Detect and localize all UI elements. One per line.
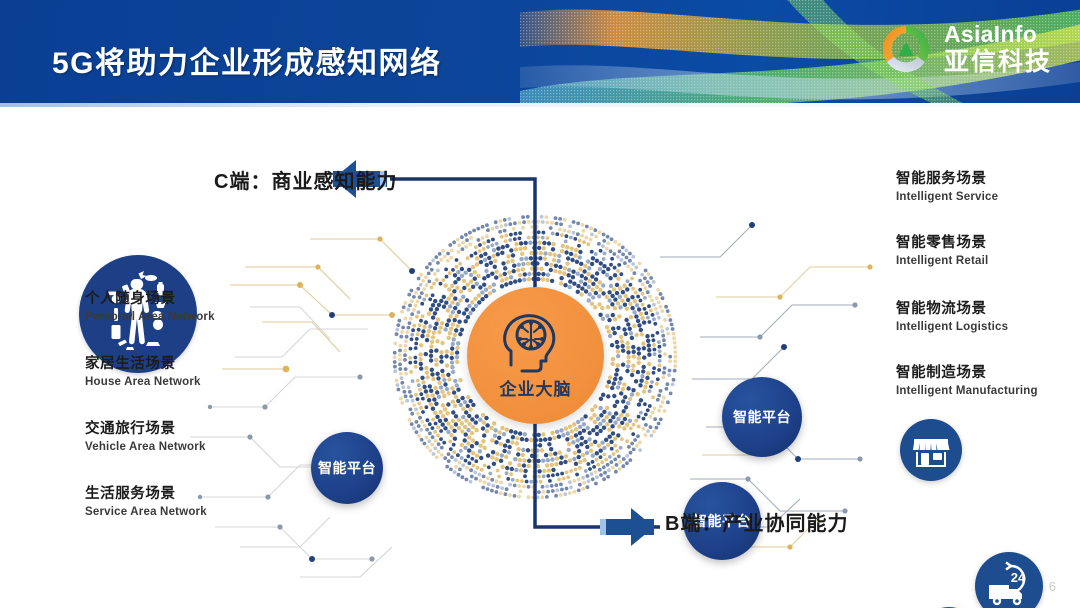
brain-head-icon [498, 309, 572, 375]
scenario-right-1-en: Intelligent Retail [896, 255, 988, 267]
scenario-right-1: 智能零售场景 Intelligent Retail [896, 231, 988, 267]
arrow-right-icon [600, 508, 654, 546]
slide: 5G将助力企业形成感知网络 [0, 0, 1080, 608]
storefront-icon [900, 419, 962, 481]
segment-label-business: B端：产业协同能力 [665, 507, 848, 536]
platform-node-left-label: 智能平台 [318, 458, 376, 478]
scenario-left-1: 家居生活场景 House Area Network [85, 352, 201, 388]
scenario-left-0-cn: 个人随身场景 [85, 287, 215, 308]
page-title: 5G将助力企业形成感知网络 [52, 38, 442, 82]
truck-badge-24: 24 [1011, 570, 1026, 585]
scenario-right-1-cn: 智能零售场景 [896, 231, 988, 252]
scenario-right-0-en: Intelligent Service [896, 191, 998, 203]
scenario-left-1-cn: 家居生活场景 [85, 352, 201, 373]
scenario-right-2-en: Intelligent Logistics [896, 321, 1008, 333]
scenario-right-3-en: Intelligent Manufacturing [896, 385, 1038, 397]
brand-name-cn: 亚信科技 [944, 50, 1052, 75]
scenario-left-0-en: Personal Area Network [85, 311, 215, 323]
scenario-left-2-cn: 交通旅行场景 [85, 417, 206, 438]
platform-node-top-right[interactable]: 智能平台 [722, 377, 802, 457]
brand-name-en: AsiaInfo [944, 23, 1052, 46]
enterprise-brain-node[interactable]: 企业大脑 [467, 287, 604, 424]
scenario-left-0: 个人随身场景 Personal Area Network [85, 287, 215, 323]
enterprise-brain-label: 企业大脑 [467, 375, 604, 400]
page-number: 6 [1049, 579, 1056, 594]
scenario-right-0-cn: 智能服务场景 [896, 167, 998, 188]
scenario-right-2-cn: 智能物流场景 [896, 297, 1008, 318]
scenario-right-3-cn: 智能制造场景 [896, 361, 1038, 382]
scenario-right-0: 智能服务场景 Intelligent Service [896, 167, 998, 203]
segment-label-consumer: C端：商业感知能力 [214, 165, 397, 194]
platform-node-left[interactable]: 智能平台 [311, 432, 383, 504]
delivery-truck-24h-icon: 24 [975, 552, 1043, 608]
slide-header: 5G将助力企业形成感知网络 [0, 0, 1080, 103]
scenario-left-3-cn: 生活服务场景 [85, 482, 207, 503]
scenario-left-3: 生活服务场景 Service Area Network [85, 482, 207, 518]
scenario-left-3-en: Service Area Network [85, 506, 207, 518]
slide-body: 企业大脑 智能平台 智能平台 智能平台 C端：商业感知能力 B端：产业协同能力 … [0, 107, 1080, 608]
platform-node-top-right-label: 智能平台 [733, 407, 791, 427]
asiainfo-logo-icon [879, 22, 933, 76]
scenario-left-2-en: Vehicle Area Network [85, 441, 206, 453]
brand-logo: AsiaInfo 亚信科技 [879, 22, 1052, 76]
scenario-right-3: 智能制造场景 Intelligent Manufacturing [896, 361, 1038, 397]
scenario-left-1-en: House Area Network [85, 376, 201, 388]
scenario-right-2: 智能物流场景 Intelligent Logistics [896, 297, 1008, 333]
scenario-left-2: 交通旅行场景 Vehicle Area Network [85, 417, 206, 453]
